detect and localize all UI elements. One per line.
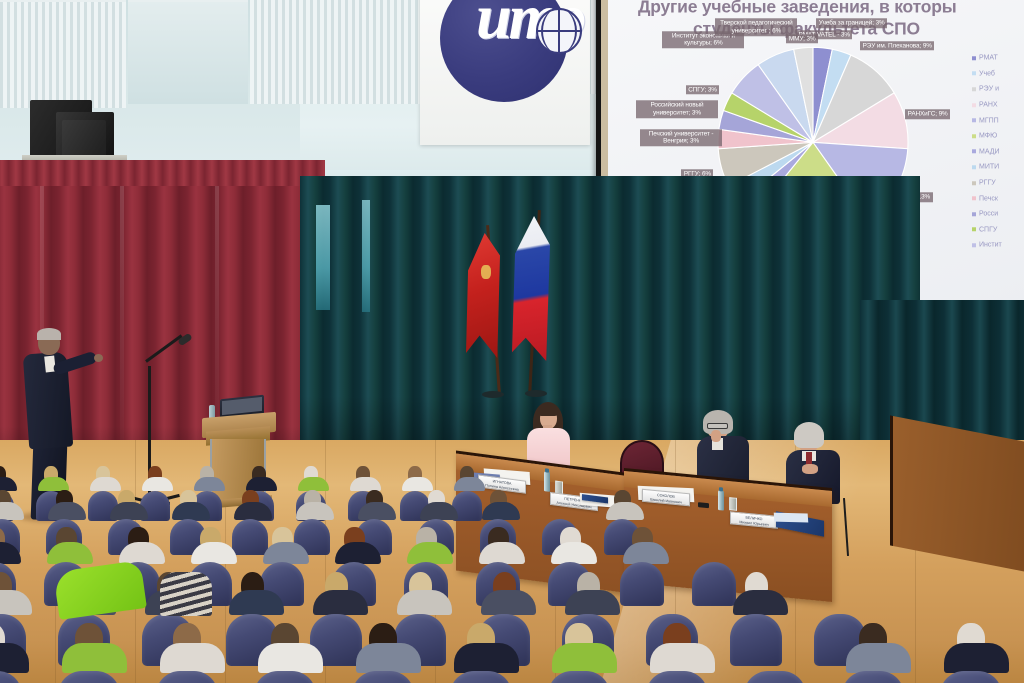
auditorium-seat[interactable] bbox=[730, 614, 782, 666]
pie-label-3: РАНХиГС; 9% bbox=[905, 109, 950, 119]
audience-member-shoulders bbox=[48, 502, 86, 520]
window-blind-left bbox=[0, 0, 126, 108]
conference-hall-photo: ито Другие учебные заведения, в которы с… bbox=[0, 0, 1024, 683]
legend-swatch-icon bbox=[972, 181, 976, 185]
legend-item-8[interactable]: РГГУ bbox=[972, 175, 1024, 191]
legend-item-9[interactable]: Печск bbox=[972, 191, 1024, 207]
chart-legend: РМАТУчебРЭУ иРАНХМГППМФЮМАДИМИТИРГГУПечс… bbox=[972, 50, 1024, 253]
auditorium-seat[interactable] bbox=[548, 671, 610, 683]
window-blind-middle bbox=[128, 0, 248, 104]
audience-member-shoulders bbox=[0, 502, 24, 520]
legend-swatch-icon bbox=[972, 72, 976, 76]
legend-label: СПГУ bbox=[979, 226, 997, 233]
legend-swatch-icon bbox=[972, 134, 976, 138]
legend-label: Росси bbox=[979, 211, 998, 218]
audience-member-shoulders bbox=[160, 643, 225, 672]
auditorium-seat[interactable] bbox=[646, 671, 708, 683]
legend-swatch-icon bbox=[972, 118, 976, 122]
audience-member-shoulders bbox=[356, 643, 421, 672]
audience-member-shoulders bbox=[551, 542, 597, 564]
audience-member-shoulders bbox=[454, 477, 486, 492]
audience-member-shoulders bbox=[846, 643, 911, 672]
legend-item-1[interactable]: Учеб bbox=[972, 66, 1024, 82]
legend-item-4[interactable]: МГПП bbox=[972, 113, 1024, 129]
legend-label: РЭУ и bbox=[979, 86, 999, 93]
legend-item-12[interactable]: Инстит bbox=[972, 237, 1024, 253]
legend-item-3[interactable]: РАНХ bbox=[972, 97, 1024, 113]
legend-swatch-icon bbox=[972, 87, 976, 91]
legend-label: МГПП bbox=[979, 117, 999, 124]
audience-member-shoulders bbox=[606, 502, 644, 520]
audience-member-shoulders bbox=[552, 643, 617, 672]
window-slit-2 bbox=[362, 200, 370, 312]
audience-member-shoulders bbox=[350, 477, 382, 492]
audience-member-shoulders bbox=[194, 477, 226, 492]
panelist-woman bbox=[525, 403, 571, 469]
pie-label-9: Печский университет - Венгрия; 3% bbox=[640, 129, 722, 147]
legend-swatch-icon bbox=[972, 150, 976, 154]
institution-logo-banner: ито bbox=[420, 0, 590, 145]
audience-member-shoulders bbox=[119, 542, 165, 564]
audience-member-shoulders bbox=[335, 542, 381, 564]
legend-label: РАНХ bbox=[979, 101, 998, 108]
audience-member-shoulders bbox=[0, 590, 32, 615]
legend-swatch-icon bbox=[972, 243, 976, 247]
audience-member-shoulders bbox=[482, 502, 520, 520]
globe-icon bbox=[536, 8, 582, 54]
auditorium-seat[interactable] bbox=[352, 671, 414, 683]
audience-member-shoulders bbox=[172, 502, 210, 520]
audience-member-shoulders bbox=[623, 542, 669, 564]
audience-member-shoulders bbox=[733, 590, 788, 615]
audience-member-shoulders bbox=[407, 542, 453, 564]
legend-label: Печск bbox=[979, 195, 998, 202]
audience-member-shoulders bbox=[191, 542, 237, 564]
legend-label: Учеб bbox=[979, 70, 995, 77]
legend-label: МАДИ bbox=[979, 148, 1000, 155]
audience-member-shoulders bbox=[650, 643, 715, 672]
pie-label-11: СПГУ; 3% bbox=[686, 85, 720, 95]
logo-circle-icon: ито bbox=[440, 0, 568, 102]
auditorium-seat[interactable] bbox=[940, 671, 1002, 683]
audience-member-shoulders bbox=[358, 502, 396, 520]
audience-member-shoulders bbox=[397, 590, 452, 615]
audience-member-shoulders bbox=[402, 477, 434, 492]
pie-label-10: Российский новый университет; 3% bbox=[636, 100, 718, 118]
legend-swatch-icon bbox=[972, 212, 976, 216]
audience-member-shoulders bbox=[313, 590, 368, 615]
audience-member-shoulders bbox=[420, 502, 458, 520]
legend-item-7[interactable]: МИТИ bbox=[972, 159, 1024, 175]
audience-member-shoulders bbox=[142, 477, 174, 492]
audience-member-shoulders bbox=[234, 502, 272, 520]
presenter-hand-with-clicker bbox=[94, 354, 103, 362]
auditorium-seat[interactable] bbox=[232, 519, 268, 555]
legend-swatch-icon bbox=[972, 165, 976, 169]
legend-item-11[interactable]: СПГУ bbox=[972, 222, 1024, 238]
legend-item-10[interactable]: Росси bbox=[972, 206, 1024, 222]
auditorium-seat[interactable] bbox=[0, 671, 22, 683]
auditorium-seat[interactable] bbox=[744, 671, 806, 683]
audience-member-shoulders bbox=[62, 643, 127, 672]
legend-label: РГГУ bbox=[979, 179, 996, 186]
auditorium-seat[interactable] bbox=[450, 671, 512, 683]
legend-swatch-icon bbox=[972, 228, 976, 232]
audience-area bbox=[0, 470, 1024, 683]
window-slit-1 bbox=[316, 205, 330, 310]
audience-member-shoulders bbox=[296, 502, 334, 520]
audience-member-shoulders bbox=[229, 590, 284, 615]
russian-flag bbox=[513, 210, 563, 410]
eyeglasses-icon bbox=[707, 423, 728, 429]
legend-item-5[interactable]: МФЮ bbox=[972, 128, 1024, 144]
audience-member-shoulders bbox=[565, 590, 620, 615]
legend-swatch-icon bbox=[972, 196, 976, 200]
pie-label-1: Учеба за границей; 3% bbox=[816, 18, 887, 28]
audience-member-shoulders bbox=[110, 502, 148, 520]
legend-label: РМАТ bbox=[979, 55, 998, 62]
auditorium-seat[interactable] bbox=[692, 562, 736, 606]
slide-title-line1: Другие учебные заведения, в которы bbox=[638, 0, 956, 16]
audience-member-shoulders bbox=[90, 477, 122, 492]
legend-label: МФЮ bbox=[979, 133, 997, 140]
pie-label-2: РЭУ им. Плеханова; 9% bbox=[860, 41, 934, 51]
auditorium-seat[interactable] bbox=[254, 671, 316, 683]
audience-member-shoulders bbox=[258, 643, 323, 672]
auditorium-seat[interactable] bbox=[58, 671, 120, 683]
audience-member-shoulders bbox=[944, 643, 1009, 672]
audience-member-shoulders bbox=[454, 643, 519, 672]
audience-striped-shirt bbox=[160, 572, 212, 616]
audience-member-shoulders bbox=[47, 542, 93, 564]
pie-label-14: ММУ; 3% bbox=[786, 34, 818, 44]
audience-member-shoulders bbox=[263, 542, 309, 564]
legend-item-0[interactable]: РМАТ bbox=[972, 50, 1024, 66]
legend-item-6[interactable]: МАДИ bbox=[972, 144, 1024, 160]
auditorium-seat[interactable] bbox=[620, 562, 664, 606]
pie-label-13: Тверской педагогический университет ; 6% bbox=[715, 18, 797, 36]
auditorium-seat[interactable] bbox=[842, 671, 904, 683]
audience-member-shoulders bbox=[479, 542, 525, 564]
legend-swatch-icon bbox=[972, 103, 976, 107]
legend-label: Инстит bbox=[979, 242, 1002, 249]
regional-flag bbox=[462, 225, 506, 405]
audience-member-shoulders bbox=[481, 590, 536, 615]
legend-item-2[interactable]: РЭУ и bbox=[972, 81, 1024, 97]
legend-label: МИТИ bbox=[979, 164, 999, 171]
auditorium-seat[interactable] bbox=[156, 671, 218, 683]
legend-swatch-icon bbox=[972, 56, 976, 60]
